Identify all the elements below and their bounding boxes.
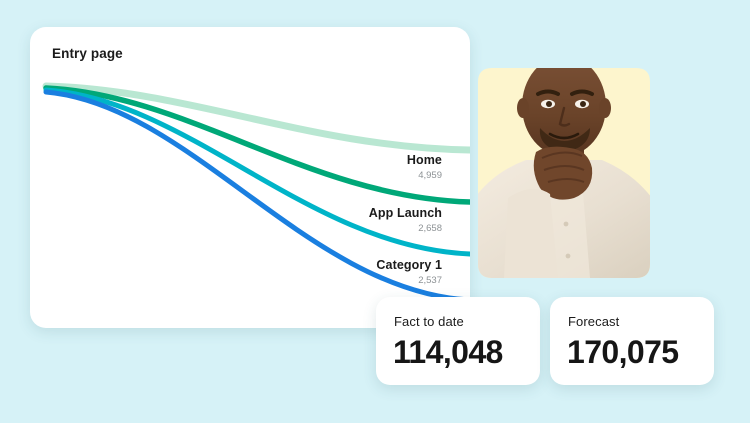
portrait — [470, 48, 660, 280]
node-label-value: 2,658 — [262, 222, 442, 235]
kpi-card-forecast: Forecast 170,075 — [550, 297, 714, 385]
kpi-label: Fact to date — [394, 314, 464, 329]
node-label-name: Home — [262, 153, 442, 168]
kpi-label: Forecast — [568, 314, 619, 329]
node-label-name: Category 1 — [262, 258, 442, 273]
kpi-value: 170,075 — [567, 333, 678, 371]
node-label-app-launch: App Launch 2,658 — [262, 206, 442, 235]
node-label-name: App Launch — [262, 206, 442, 221]
kpi-card-fact-to-date: Fact to date 114,048 — [376, 297, 540, 385]
node-label-category-1: Category 1 2,537 — [262, 258, 442, 287]
kpi-value: 114,048 — [393, 333, 503, 371]
node-label-value: 4,959 — [262, 169, 442, 182]
node-label-value: 2,537 — [262, 274, 442, 287]
screenshot-root: Entry page Home 4,959 App Launch 2,658 C… — [0, 0, 750, 423]
entry-page-chart-card: Entry page Home 4,959 App Launch 2,658 C… — [30, 27, 470, 328]
node-label-home: Home 4,959 — [262, 153, 442, 182]
portrait-photo — [478, 48, 650, 278]
